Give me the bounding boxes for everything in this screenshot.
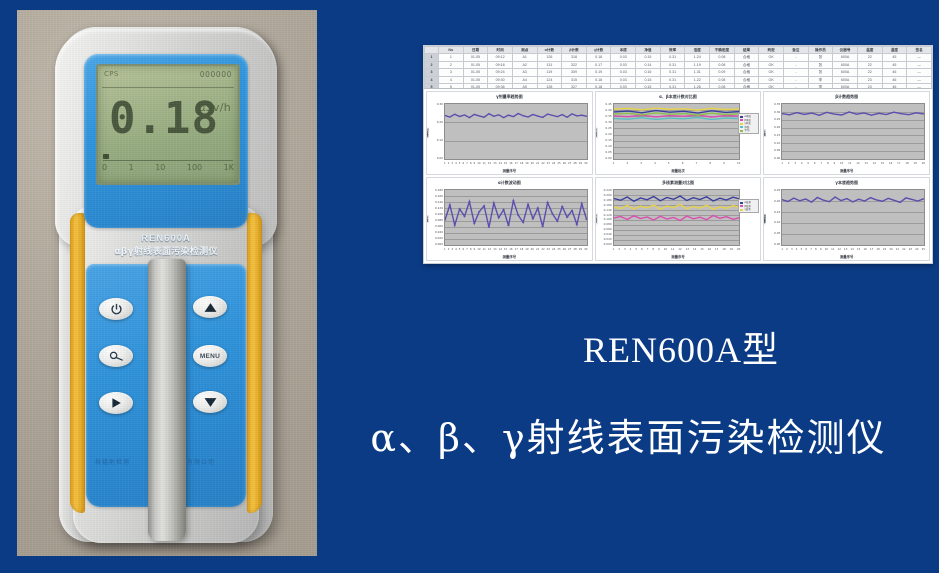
x-tick: 9 xyxy=(658,248,660,253)
x-tick: 20 xyxy=(922,162,925,167)
chart-data-point xyxy=(905,197,908,198)
chart-data-point xyxy=(712,209,714,210)
x-tick: 8 xyxy=(709,162,711,167)
chart-data-point xyxy=(445,219,446,220)
x-tick: 17 xyxy=(515,162,518,167)
charts-grid: γ剂量率趋势图剂量率0.300.200.100.0012345678910111… xyxy=(426,91,930,261)
chart-data-point xyxy=(463,115,466,116)
table-cell: 0.03 xyxy=(611,76,636,83)
x-tick: 8 xyxy=(470,248,472,253)
y-tick: 0.05 xyxy=(605,151,611,154)
table-cell: 1.24 xyxy=(685,54,710,61)
x-tick: 10 xyxy=(737,162,740,167)
table-column-header: 结果 xyxy=(734,47,759,54)
table-cell: 600A xyxy=(833,76,858,83)
chart-data-point xyxy=(712,201,714,202)
chart-data-point xyxy=(682,116,684,117)
x-tick: 29 xyxy=(579,162,582,167)
power-button[interactable] xyxy=(99,298,133,320)
x-tick: 24 xyxy=(915,248,918,253)
chart-data-point xyxy=(699,208,701,209)
chart-data-point xyxy=(463,216,466,217)
chart-data-point xyxy=(685,216,687,217)
y-tick: 0.30 xyxy=(437,103,443,106)
chart-data-point xyxy=(458,116,461,117)
x-tick: 16 xyxy=(863,248,866,253)
menu-button[interactable]: MENU xyxy=(193,345,227,367)
chart-gridline xyxy=(782,245,924,246)
x-tick: 26 xyxy=(563,248,566,253)
x-tick: 18 xyxy=(520,248,523,253)
chart-data-point xyxy=(692,206,694,207)
chart-data-point xyxy=(626,205,628,206)
table-column-header: 时间 xyxy=(488,47,513,54)
table-cell: 126 xyxy=(537,54,562,61)
measurement-table: No日期时间测点α计数β计数γ计数本底净值效率活度不确定度结果判定备注操作员仪器… xyxy=(424,46,932,89)
chart-plot-wrapper xyxy=(781,103,925,160)
chart-x-axis-ticks: 1234567891011121314151617181920212223242… xyxy=(444,162,588,167)
chart-data-point xyxy=(619,216,621,217)
y-tick: 0.15 xyxy=(605,139,611,142)
x-tick: 23 xyxy=(909,248,912,253)
down-button[interactable] xyxy=(193,391,227,413)
chart-data-point xyxy=(527,117,530,118)
chart-data-point xyxy=(805,199,808,200)
x-tick: 22 xyxy=(902,248,905,253)
x-tick: 12 xyxy=(488,248,491,253)
table-cell: A5 xyxy=(512,84,537,89)
x-tick: 10 xyxy=(664,248,667,253)
chart-data-point xyxy=(899,202,902,203)
table-cell: 01-05 xyxy=(463,76,488,83)
y-tick: 0.020 xyxy=(435,237,443,240)
chart-series-svg xyxy=(782,190,924,245)
chart-data-point xyxy=(672,217,674,218)
chart-data-point xyxy=(632,201,634,202)
y-tick: 0.000 xyxy=(604,243,612,246)
chart-data-point xyxy=(517,215,520,216)
chart-data-point xyxy=(712,215,714,216)
y-tick: 0.020 xyxy=(604,238,612,241)
chart-legend: α本底β本底γ本底净值平均 xyxy=(738,113,759,134)
magnifier-icon xyxy=(109,350,124,362)
chart-data-point xyxy=(640,109,642,110)
table-column-header: 活度 xyxy=(685,47,710,54)
y-tick: 0.15 xyxy=(774,211,780,214)
y-tick: 0.160 xyxy=(604,204,612,207)
legend-swatch xyxy=(740,130,743,132)
chart-data-point xyxy=(679,204,681,205)
chart-data-point xyxy=(502,117,505,118)
table-cell: 46 xyxy=(882,76,907,83)
chart-y-axis-ticks: 0.450.400.350.300.250.200.150.100.050.00 xyxy=(597,103,612,160)
table-cell: — xyxy=(907,84,932,89)
chart-data-point xyxy=(682,108,684,109)
table-cell: 合格 xyxy=(734,54,759,61)
chart-data-point xyxy=(885,114,888,115)
table-cell: 09:18 xyxy=(488,61,513,68)
chart-data-point xyxy=(654,116,656,117)
table-cell: 合格 xyxy=(734,61,759,68)
lcd-unit: μSv/h xyxy=(198,101,231,114)
chart-data-point xyxy=(841,115,844,116)
table-cell: 0.03 xyxy=(611,69,636,76)
x-tick: 20 xyxy=(531,248,534,253)
legend-item: γ核素 xyxy=(740,208,757,211)
chart-data-point xyxy=(626,108,628,109)
table-column-header: 判定 xyxy=(759,47,784,54)
chart-data-point xyxy=(840,200,843,201)
y-tick: 0.100 xyxy=(435,213,443,216)
table-cell: 3 xyxy=(439,69,464,76)
y-tick: 0.35 xyxy=(605,115,611,118)
chart-plot-wrapper xyxy=(613,103,741,160)
chart-data-point xyxy=(483,117,486,118)
table-cell: 1 xyxy=(439,54,464,61)
table-cell: 1.31 xyxy=(685,69,710,76)
chart-plot-area xyxy=(613,103,741,160)
table-cell: 0.31 xyxy=(660,76,685,83)
table-cell: 0.08 xyxy=(710,54,735,61)
table-cell: 23 xyxy=(857,84,882,89)
x-tick: 19 xyxy=(525,162,528,167)
table-cell: 327 xyxy=(562,84,587,89)
chart-data-point xyxy=(566,117,569,118)
chart-data-point xyxy=(826,112,829,113)
x-tick: 13 xyxy=(493,162,496,167)
chart-data-point xyxy=(659,200,661,201)
table-cell: 322 xyxy=(562,61,587,68)
table-cell: 01-05 xyxy=(463,61,488,68)
table-row-header: 2 xyxy=(425,61,439,68)
chart-data-point xyxy=(580,203,583,204)
table-column-header: 净值 xyxy=(636,47,661,54)
table-column-header: 测点 xyxy=(512,47,537,54)
chart-data-point xyxy=(705,196,707,197)
x-tick: 11 xyxy=(671,248,674,253)
x-tick: 5 xyxy=(459,248,461,253)
chart-data-point xyxy=(537,116,540,117)
x-tick: 17 xyxy=(715,248,718,253)
chart-data-point xyxy=(828,201,831,202)
table-cell: 0.08 xyxy=(710,76,735,83)
chart-data-point xyxy=(458,208,461,209)
chart-data-point xyxy=(881,201,884,202)
chart-data-point xyxy=(626,197,628,198)
x-tick: 4 xyxy=(455,248,457,253)
chart-series-svg xyxy=(445,190,587,245)
x-tick: 24 xyxy=(552,162,555,167)
play-button[interactable] xyxy=(99,392,133,414)
table-cell: 张 xyxy=(808,54,833,61)
table-cell: 01-05 xyxy=(463,84,488,89)
x-tick: 25 xyxy=(557,248,560,253)
x-tick: 7 xyxy=(820,162,822,167)
x-tick: 15 xyxy=(504,248,507,253)
x-tick: 16 xyxy=(509,248,512,253)
legend-swatch xyxy=(740,205,743,207)
table-cell: - xyxy=(783,76,808,83)
table-cell: 0.31 xyxy=(660,84,685,89)
x-tick: 12 xyxy=(856,162,859,167)
chart-data-point xyxy=(449,117,452,118)
y-tick: 0.060 xyxy=(604,228,612,231)
chart-data-point xyxy=(665,197,667,198)
chart-x-axis-ticks: 1234567891011121314151617181920212223242… xyxy=(781,248,925,253)
chart-card-2: β计数趋势图计数0.350.300.250.200.150.100.050.00… xyxy=(763,91,930,175)
chart-data-point xyxy=(473,114,476,115)
chart-x-axis-ticks: 12345678910 xyxy=(613,162,741,167)
x-tick: 15 xyxy=(504,162,507,167)
lcd-status-row: CPS 000000 xyxy=(98,69,238,85)
y-tick: 0.00 xyxy=(774,157,780,160)
y-tick: 0.10 xyxy=(605,145,611,148)
radiation-detector-device: CPS 000000 0.18 μSv/h 01101001K REN600A … xyxy=(59,27,273,542)
chart-data-point xyxy=(537,208,540,209)
chart-data-point xyxy=(541,117,544,118)
chart-data-point xyxy=(685,200,687,201)
x-tick: 27 xyxy=(568,162,571,167)
chart-plot-area xyxy=(444,189,588,246)
triangle-up-icon xyxy=(204,302,217,313)
x-tick: 21 xyxy=(536,162,539,167)
table-column-header: 不确定度 xyxy=(710,47,735,54)
chart-x-axis-label: 测量序号 xyxy=(764,254,929,259)
up-button[interactable] xyxy=(193,296,227,318)
software-report-screenshot: No日期时间测点α计数β计数γ计数本底净值效率活度不确定度结果判定备注操作员仪器… xyxy=(423,45,933,264)
chart-series-svg xyxy=(614,104,740,159)
table-cell: A2 xyxy=(512,61,537,68)
table-cell: 131 xyxy=(537,61,562,68)
y-tick: 0.080 xyxy=(604,223,612,226)
table-column-header: α计数 xyxy=(537,47,562,54)
chart-data-point xyxy=(449,204,452,205)
chart-data-point xyxy=(787,201,790,202)
chart-data-point xyxy=(696,110,698,111)
table-cell: 合格 xyxy=(734,69,759,76)
table-row: 4401-0509:30A41243150.180.030.150.311.22… xyxy=(425,76,932,83)
device-faceplate: CPS 000000 0.18 μSv/h 01101001K xyxy=(84,54,248,228)
chart-data-point xyxy=(556,221,559,222)
x-tick: 3 xyxy=(451,162,453,167)
page-subtitle: α、β、γ射线表面污染检测仪 xyxy=(318,412,939,464)
table-body: 1101-0509:12A11263180.180.030.150.311.24… xyxy=(425,54,932,89)
chart-data-point xyxy=(710,113,712,114)
table-cell: 合格 xyxy=(734,84,759,89)
chart-data-point xyxy=(497,217,500,218)
chart-data-point xyxy=(571,210,574,211)
x-tick: 4 xyxy=(654,162,656,167)
chart-data-point xyxy=(699,199,701,200)
x-tick: 8 xyxy=(470,162,472,167)
x-tick: 25 xyxy=(922,248,925,253)
table-cell: 2 xyxy=(439,61,464,68)
table-cell: 124 xyxy=(537,76,562,83)
chart-data-point xyxy=(893,112,896,113)
x-tick: 6 xyxy=(682,162,684,167)
table-cell: 0.31 xyxy=(660,61,685,68)
chart-data-point xyxy=(639,198,641,199)
chart-data-point xyxy=(911,199,914,200)
table-cell: 0.14 xyxy=(636,61,661,68)
table-cell: 0.03 xyxy=(611,54,636,61)
chart-plot-wrapper xyxy=(781,189,925,246)
chart-data-point xyxy=(917,201,920,202)
device-footer-left: 核辐射检测 xyxy=(95,457,130,466)
x-tick: 13 xyxy=(493,248,496,253)
chart-data-point xyxy=(887,198,890,199)
x-tick: 1 xyxy=(444,162,446,167)
chart-plot-wrapper xyxy=(613,189,741,246)
chart-data-point xyxy=(665,219,667,220)
chart-x-axis-ticks: 1234567891011121314151617181920 xyxy=(781,162,925,167)
y-tick: 0.00 xyxy=(774,243,780,246)
chart-data-point xyxy=(580,115,583,116)
table-cell: 600A xyxy=(833,54,858,61)
chart-data-point xyxy=(453,114,456,115)
lcd-mode-label: CPS xyxy=(104,70,119,78)
x-tick: 2 xyxy=(618,248,620,253)
y-tick: 0.00 xyxy=(437,157,443,160)
chart-title: γ本底趋势图 xyxy=(764,180,929,186)
chart-y-axis-ticks: 0.2200.2000.1800.1600.1400.1200.1000.080… xyxy=(597,189,612,246)
chart-data-point xyxy=(915,112,918,113)
legend-label: γ核素 xyxy=(744,208,750,211)
chart-data-point xyxy=(619,200,621,201)
x-tick: 1 xyxy=(444,248,446,253)
table-cell: 23 xyxy=(857,76,882,83)
lcd-reading-area: 0.18 μSv/h xyxy=(103,92,233,150)
chart-data-point xyxy=(668,114,670,115)
chart-data-point xyxy=(654,108,656,109)
y-tick: 0.120 xyxy=(604,214,612,217)
x-tick: 8 xyxy=(815,248,817,253)
lcd-bargraph-indicator xyxy=(103,154,109,159)
y-tick: 0.200 xyxy=(604,194,612,197)
page-title: REN600A型 xyxy=(423,328,939,372)
search-button[interactable] xyxy=(99,345,133,367)
y-tick: 0.20 xyxy=(437,121,443,124)
x-tick: 5 xyxy=(807,162,809,167)
chart-data-point xyxy=(710,110,712,111)
x-tick: 25 xyxy=(557,162,560,167)
table-column-header: No xyxy=(439,47,464,54)
chart-gridline xyxy=(445,245,587,246)
table-cell: — xyxy=(907,69,932,76)
chart-data-point xyxy=(672,199,674,200)
chart-series-svg xyxy=(614,190,740,245)
x-tick: 9 xyxy=(474,162,476,167)
x-tick: 3 xyxy=(451,248,453,253)
chart-data-point xyxy=(668,115,670,116)
chart-data-point xyxy=(507,225,510,226)
table-cell: 600A xyxy=(833,61,858,68)
chart-data-point xyxy=(682,113,684,114)
x-tick: 19 xyxy=(730,248,733,253)
table-cell: 01-05 xyxy=(463,54,488,61)
chart-data-point xyxy=(561,206,564,207)
x-tick: 20 xyxy=(531,162,534,167)
chart-data-point xyxy=(493,203,496,204)
x-tick: 7 xyxy=(647,248,649,253)
triangle-down-icon xyxy=(204,397,217,408)
table-cell: 0.18 xyxy=(586,54,611,61)
chart-data-point xyxy=(793,198,796,199)
y-tick: 0.30 xyxy=(605,121,611,124)
y-tick: 0.100 xyxy=(604,218,612,221)
table-column-header: 效率 xyxy=(660,47,685,54)
table-cell: 张 xyxy=(808,61,833,68)
x-tick: 30 xyxy=(584,162,587,167)
chart-data-point xyxy=(585,219,586,220)
table-column-header: 备注 xyxy=(783,47,808,54)
chart-data-point xyxy=(527,204,530,205)
x-tick: 1 xyxy=(613,162,615,167)
chart-data-point xyxy=(659,216,661,217)
chart-title: β计数趋势图 xyxy=(764,94,929,100)
legend-item: 平均 xyxy=(740,129,757,132)
data-table: No日期时间测点α计数β计数γ计数本底净值效率活度不确定度结果判定备注操作员仪器… xyxy=(424,46,932,89)
x-tick: 10 xyxy=(840,162,843,167)
chart-data-point xyxy=(710,119,712,120)
chart-data-point xyxy=(652,205,654,206)
chart-card-5: γ本底趋势图剂量率0.250.200.150.100.050.001234567… xyxy=(763,177,930,261)
y-tick: 0.05 xyxy=(774,149,780,152)
chart-data-point xyxy=(488,113,491,114)
table-cell: A4 xyxy=(512,76,537,83)
x-tick: 3 xyxy=(794,162,796,167)
table-column-header: β计数 xyxy=(562,47,587,54)
chart-data-point xyxy=(646,217,648,218)
table-cell: 0.03 xyxy=(611,84,636,89)
table-cell: 309 xyxy=(562,69,587,76)
chart-title: γ剂量率趋势图 xyxy=(427,94,592,100)
legend-swatch xyxy=(740,116,743,118)
chart-series-line xyxy=(445,201,587,228)
chart-x-axis-ticks: 1234567891011121314151617181920 xyxy=(613,248,741,253)
y-tick: 0.040 xyxy=(435,231,443,234)
chart-series-line xyxy=(614,117,740,119)
table-cell: 46 xyxy=(882,69,907,76)
x-tick: 7 xyxy=(696,162,698,167)
chart-data-point xyxy=(546,114,549,115)
lcd-scale-tick-4: 1K xyxy=(224,163,234,177)
table-cell: 45 xyxy=(882,61,907,68)
chart-data-point xyxy=(626,113,628,114)
x-tick: 8 xyxy=(652,248,654,253)
chart-data-point xyxy=(493,116,496,117)
chart-series-line xyxy=(614,115,740,117)
chart-data-point xyxy=(696,115,698,116)
x-tick: 3 xyxy=(791,248,793,253)
chart-data-point xyxy=(799,200,802,201)
table-cell: 600A xyxy=(833,84,858,89)
chart-data-point xyxy=(654,112,656,113)
table-cell: OK xyxy=(759,54,784,61)
chart-data-point xyxy=(848,112,851,113)
table-cell: - xyxy=(783,69,808,76)
x-tick: 9 xyxy=(474,248,476,253)
x-tick: 21 xyxy=(536,248,539,253)
table-cell: 09:12 xyxy=(488,54,513,61)
chart-data-point xyxy=(640,117,642,118)
chart-data-point xyxy=(512,116,515,117)
chart-data-point xyxy=(483,205,486,206)
table-corner-cell xyxy=(425,47,439,54)
x-tick: 6 xyxy=(462,248,464,253)
x-tick: 11 xyxy=(483,162,486,167)
x-tick: 6 xyxy=(641,248,643,253)
